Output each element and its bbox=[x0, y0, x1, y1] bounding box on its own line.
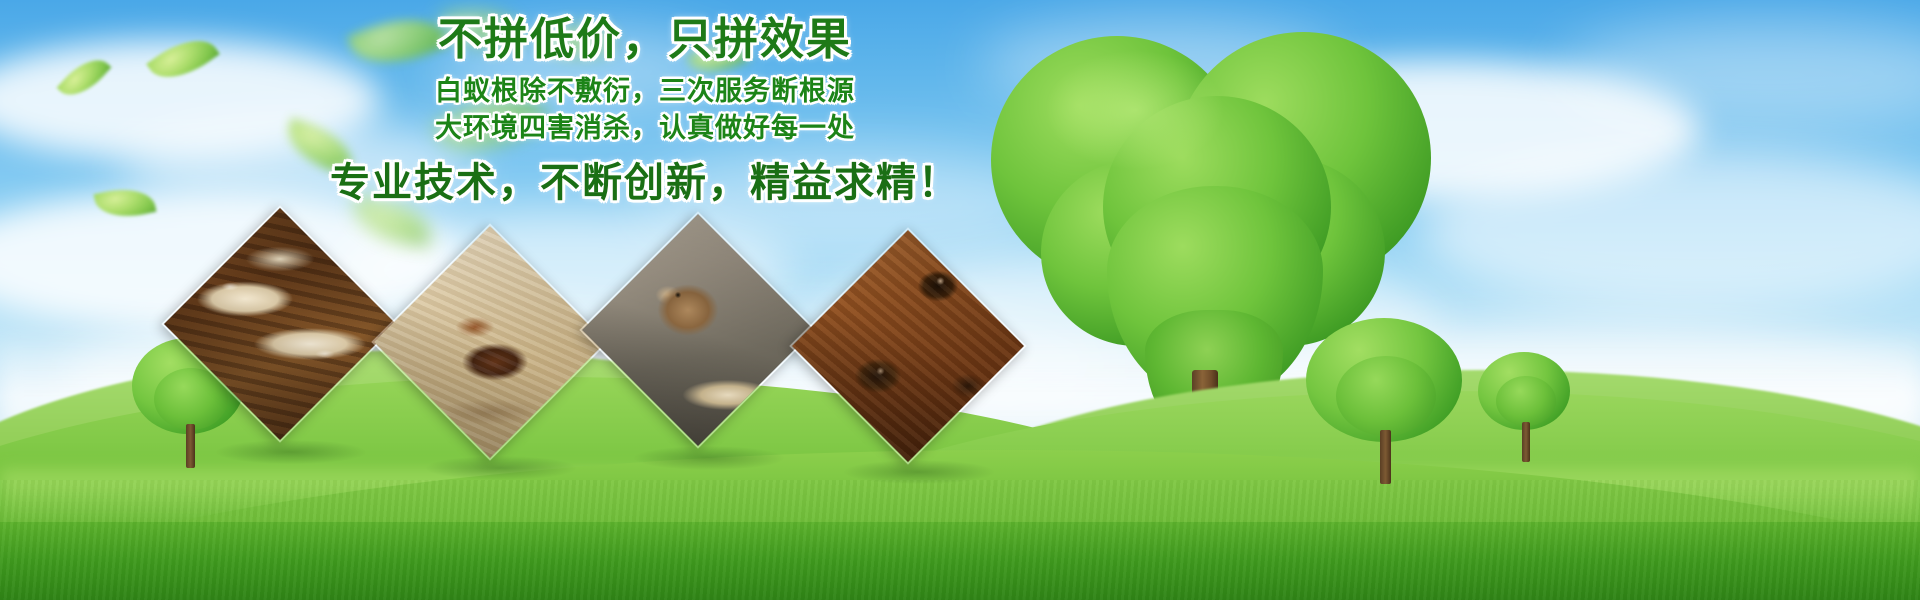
mouse-photo[interactable] bbox=[579, 211, 817, 449]
termites-photo-image bbox=[161, 205, 399, 443]
tree-right-mid bbox=[1306, 318, 1466, 480]
canopy-highlight bbox=[1045, 50, 1225, 170]
pest-photo-gallery bbox=[190, 228, 1030, 468]
tree-right-small bbox=[1478, 352, 1574, 464]
grass-texture bbox=[0, 480, 1920, 600]
banner-tagline: 专业技术，不断创新，精益求精！ bbox=[250, 159, 1040, 207]
tree-canopy bbox=[1496, 376, 1556, 426]
tree-trunk bbox=[1522, 422, 1530, 462]
promo-banner: 不拼低价，只拼效果 白蚁根除不敷衍，三次服务断根源 大环境四害消杀，认真做好每一… bbox=[0, 0, 1920, 600]
ants-photo-image bbox=[789, 227, 1027, 465]
banner-copy: 不拼低价，只拼效果 白蚁根除不敷衍，三次服务断根源 大环境四害消杀，认真做好每一… bbox=[250, 14, 1040, 207]
tree-trunk bbox=[1380, 430, 1391, 484]
cockroach-photo-image bbox=[371, 223, 609, 461]
termites-photo[interactable] bbox=[161, 205, 399, 443]
tree-canopy bbox=[1336, 356, 1436, 436]
mouse-photo-image bbox=[579, 211, 817, 449]
banner-headline: 不拼低价，只拼效果 bbox=[250, 14, 1040, 66]
cockroach-photo[interactable] bbox=[371, 223, 609, 461]
ants-photo[interactable] bbox=[789, 227, 1027, 465]
banner-subline-2: 大环境四害消杀，认真做好每一处 bbox=[250, 111, 1040, 147]
banner-subline-1: 白蚁根除不敷衍，三次服务断根源 bbox=[250, 74, 1040, 110]
